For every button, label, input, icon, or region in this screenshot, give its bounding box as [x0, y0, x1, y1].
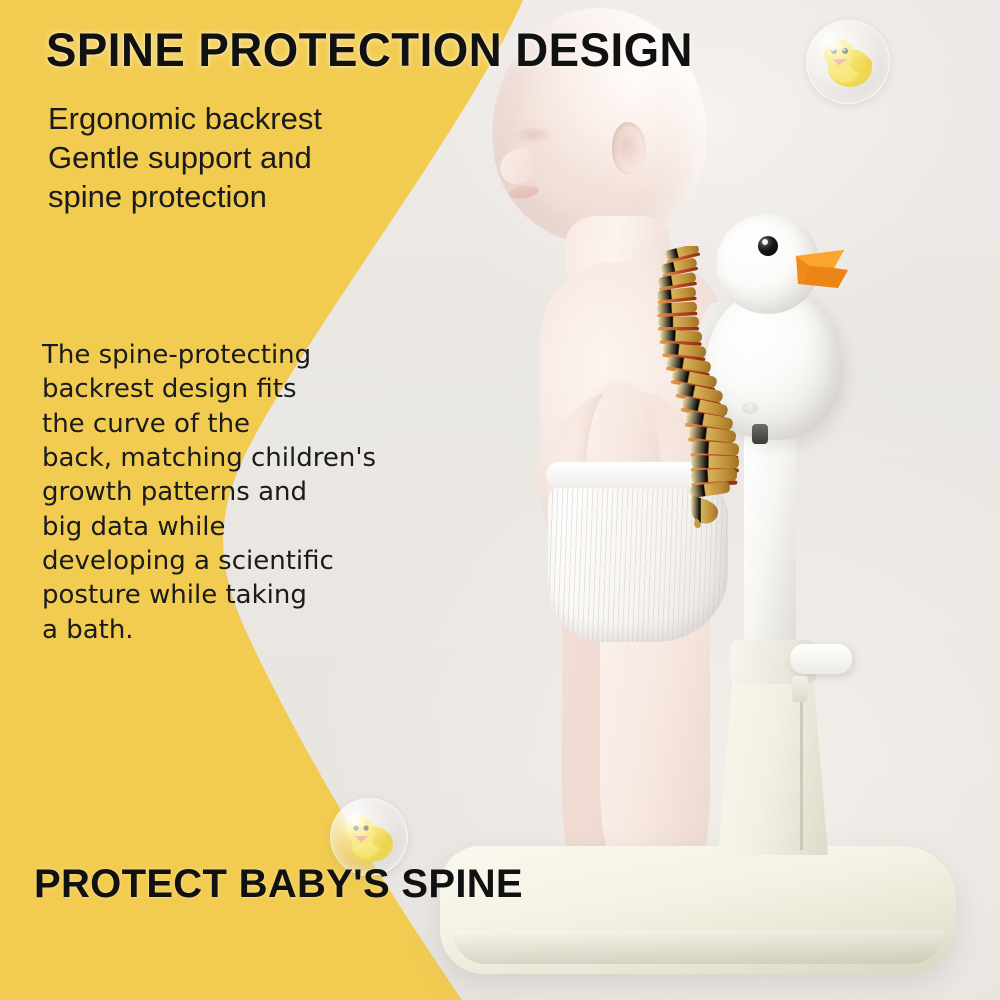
spine-illustration	[648, 246, 758, 528]
body-paragraph: The spine-protecting backrest design fit…	[42, 338, 376, 647]
adjust-handle	[790, 644, 852, 674]
duck-eye-icon	[758, 236, 778, 256]
base-lip	[452, 930, 944, 964]
baby-ear	[612, 122, 646, 174]
baby-brow	[512, 128, 554, 144]
product-feature-poster: SPINE PROTECTION DESIGN Ergonomic backre…	[0, 0, 1000, 1000]
bubble-duck-top	[806, 20, 890, 104]
handle-clip	[792, 676, 808, 702]
subtitle-text: Ergonomic backrest Gentle support and sp…	[48, 100, 322, 216]
duck-beak-icon	[794, 248, 850, 292]
footer-tagline: PROTECT BABY'S SPINE	[34, 862, 523, 907]
page-title: SPINE PROTECTION DESIGN	[46, 22, 693, 77]
